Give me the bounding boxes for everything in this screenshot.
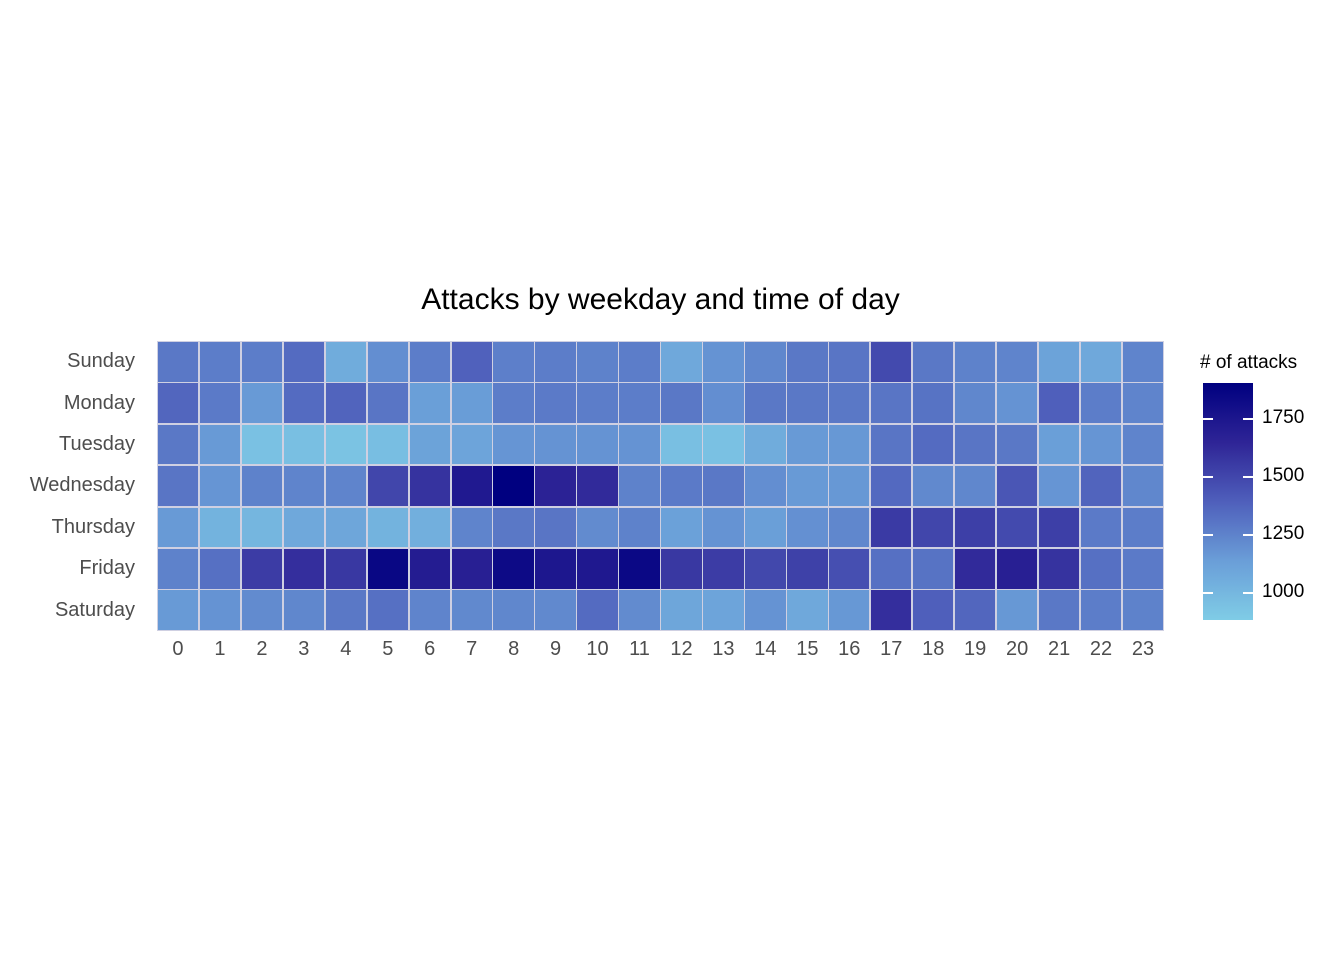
heatmap-cell — [410, 590, 450, 630]
legend-tick-mark — [1203, 592, 1213, 594]
x-tick-label: 5 — [367, 638, 409, 672]
heatmap-cell — [284, 590, 324, 630]
heatmap-cell — [787, 590, 827, 630]
heatmap-cell — [242, 425, 282, 465]
heatmap-cell — [703, 425, 743, 465]
y-tick-label: Saturday — [0, 590, 145, 631]
y-axis-weekday-labels: SundayMondayTuesdayWednesdayThursdayFrid… — [0, 341, 145, 631]
legend-tick-label: 1250 — [1262, 523, 1304, 545]
heatmap-cell — [1123, 466, 1163, 506]
heatmap-cell — [829, 342, 869, 382]
heatmap-cell — [619, 508, 659, 548]
heatmap-cell — [158, 425, 198, 465]
heatmap-cell — [368, 508, 408, 548]
heatmap-cell — [493, 342, 533, 382]
heatmap-cell — [452, 425, 492, 465]
heatmap-cell — [535, 590, 575, 630]
heatmap-cell — [661, 590, 701, 630]
heatmap-cell — [535, 549, 575, 589]
heatmap-cell — [619, 342, 659, 382]
heatmap-cell — [829, 383, 869, 423]
x-tick-label: 20 — [996, 638, 1038, 672]
heatmap-cell — [1039, 508, 1079, 548]
heatmap-cell — [871, 508, 911, 548]
heatmap-cell — [829, 508, 869, 548]
heatmap-cell — [703, 342, 743, 382]
heatmap-cell — [326, 508, 366, 548]
x-tick-label: 4 — [325, 638, 367, 672]
x-tick-label: 22 — [1080, 638, 1122, 672]
heatmap-cell — [1123, 342, 1163, 382]
heatmap-cell — [452, 590, 492, 630]
heatmap-cell — [410, 425, 450, 465]
heatmap-cell — [200, 590, 240, 630]
heatmap-cell — [326, 590, 366, 630]
heatmap-cell — [997, 549, 1037, 589]
heatmap-cell — [787, 342, 827, 382]
heatmap-cell — [1123, 549, 1163, 589]
heatmap-cell — [661, 549, 701, 589]
heatmap-cell — [745, 590, 785, 630]
heatmap-cell — [368, 466, 408, 506]
x-tick-label: 15 — [786, 638, 828, 672]
heatmap-cell — [284, 466, 324, 506]
heatmap-cell — [997, 508, 1037, 548]
heatmap-cell — [326, 549, 366, 589]
heatmap-cell — [200, 383, 240, 423]
heatmap-cell — [955, 425, 995, 465]
heatmap-cell — [661, 342, 701, 382]
heatmap-cell — [1081, 508, 1121, 548]
heatmap-cell — [577, 342, 617, 382]
heatmap-cell — [535, 425, 575, 465]
heatmap-cell — [787, 425, 827, 465]
heatmap-cell — [284, 383, 324, 423]
heatmap-cell — [452, 466, 492, 506]
x-tick-label: 3 — [283, 638, 325, 672]
x-tick-label: 17 — [870, 638, 912, 672]
heatmap-cell — [284, 342, 324, 382]
heatmap-cell — [871, 466, 911, 506]
heatmap-cell — [368, 549, 408, 589]
heatmap-cell — [200, 342, 240, 382]
heatmap-cell — [158, 590, 198, 630]
x-tick-label: 0 — [157, 638, 199, 672]
heatmap-cell — [955, 466, 995, 506]
heatmap-cell — [577, 590, 617, 630]
heatmap-cell — [577, 549, 617, 589]
heatmap-cell — [535, 342, 575, 382]
heatmap-cell — [661, 383, 701, 423]
x-tick-label: 11 — [619, 638, 661, 672]
heatmap-cell — [955, 508, 995, 548]
heatmap-cell — [745, 342, 785, 382]
heatmap-cell — [703, 383, 743, 423]
heatmap-cell — [158, 508, 198, 548]
heatmap-cell — [242, 342, 282, 382]
heatmap-cell — [787, 508, 827, 548]
heatmap-cell — [1081, 590, 1121, 630]
heatmap-cell — [745, 549, 785, 589]
x-tick-label: 1 — [199, 638, 241, 672]
heatmap-cell — [158, 466, 198, 506]
heatmap-cell — [368, 383, 408, 423]
plot-area — [157, 341, 1164, 631]
x-tick-label: 23 — [1122, 638, 1164, 672]
x-tick-label: 13 — [702, 638, 744, 672]
heatmap-cell — [158, 549, 198, 589]
legend-tick-mark — [1203, 476, 1213, 478]
heatmap-cell — [703, 549, 743, 589]
heatmap-cell — [493, 425, 533, 465]
heatmap-cell — [955, 549, 995, 589]
x-tick-label: 19 — [954, 638, 996, 672]
legend-tick-mark — [1243, 418, 1253, 420]
heatmap-cell — [1039, 383, 1079, 423]
y-tick-label: Sunday — [0, 341, 145, 382]
heatmap-cell — [368, 342, 408, 382]
heatmap-cell — [242, 590, 282, 630]
legend-tick-label: 1000 — [1262, 581, 1304, 603]
heatmap-cell — [1123, 508, 1163, 548]
heatmap-cell — [745, 466, 785, 506]
y-tick-label: Wednesday — [0, 465, 145, 506]
heatmap-cell — [1123, 425, 1163, 465]
heatmap-cell — [955, 590, 995, 630]
heatmap-cell — [242, 508, 282, 548]
heatmap-figure: Attacks by weekday and time of day Sunda… — [0, 0, 1344, 960]
heatmap-cell — [913, 342, 953, 382]
heatmap-cell — [703, 590, 743, 630]
heatmap-cell — [326, 466, 366, 506]
heatmap-cell — [871, 425, 911, 465]
heatmap-cell — [829, 466, 869, 506]
heatmap-cell — [745, 425, 785, 465]
heatmap-cell — [493, 466, 533, 506]
heatmap-cell — [284, 425, 324, 465]
heatmap-grid — [157, 341, 1164, 631]
heatmap-cell — [913, 466, 953, 506]
heatmap-cell — [829, 590, 869, 630]
heatmap-cell — [787, 549, 827, 589]
legend-tick-mark — [1243, 592, 1253, 594]
heatmap-cell — [1081, 549, 1121, 589]
heatmap-cell — [913, 590, 953, 630]
heatmap-cell — [745, 383, 785, 423]
heatmap-cell — [913, 508, 953, 548]
heatmap-cell — [1081, 466, 1121, 506]
heatmap-cell — [1081, 425, 1121, 465]
heatmap-cell — [703, 508, 743, 548]
heatmap-cell — [871, 383, 911, 423]
y-tick-label: Friday — [0, 548, 145, 589]
x-tick-label: 14 — [744, 638, 786, 672]
heatmap-cell — [200, 425, 240, 465]
heatmap-cell — [284, 549, 324, 589]
heatmap-cell — [452, 383, 492, 423]
x-tick-label: 18 — [912, 638, 954, 672]
heatmap-cell — [577, 383, 617, 423]
heatmap-cell — [661, 466, 701, 506]
heatmap-cell — [200, 508, 240, 548]
heatmap-cell — [619, 590, 659, 630]
heatmap-cell — [410, 508, 450, 548]
heatmap-cell — [619, 383, 659, 423]
heatmap-cell — [200, 549, 240, 589]
heatmap-cell — [158, 383, 198, 423]
heatmap-cell — [997, 342, 1037, 382]
x-tick-label: 2 — [241, 638, 283, 672]
heatmap-cell — [997, 383, 1037, 423]
heatmap-cell — [913, 425, 953, 465]
legend-title: # of attacks — [1200, 352, 1297, 374]
heatmap-cell — [452, 342, 492, 382]
heatmap-cell — [158, 342, 198, 382]
legend: # of attacks 1750150012501000 — [1196, 352, 1344, 632]
legend-colorbar — [1203, 383, 1253, 620]
heatmap-cell — [871, 342, 911, 382]
x-tick-label: 16 — [828, 638, 870, 672]
heatmap-cell — [1039, 549, 1079, 589]
heatmap-cell — [787, 466, 827, 506]
heatmap-cell — [745, 508, 785, 548]
x-tick-label: 6 — [409, 638, 451, 672]
heatmap-cell — [577, 425, 617, 465]
heatmap-cell — [410, 466, 450, 506]
heatmap-cell — [535, 383, 575, 423]
heatmap-cell — [493, 590, 533, 630]
heatmap-cell — [326, 383, 366, 423]
heatmap-cell — [829, 549, 869, 589]
legend-tick-mark — [1243, 534, 1253, 536]
legend-tick-mark — [1203, 534, 1213, 536]
heatmap-cell — [284, 508, 324, 548]
x-tick-label: 7 — [451, 638, 493, 672]
legend-tick-mark — [1243, 476, 1253, 478]
heatmap-cell — [1123, 383, 1163, 423]
heatmap-cell — [410, 342, 450, 382]
x-tick-label: 12 — [660, 638, 702, 672]
heatmap-cell — [410, 383, 450, 423]
legend-tick-mark — [1203, 418, 1213, 420]
y-tick-label: Monday — [0, 382, 145, 423]
heatmap-cell — [1039, 425, 1079, 465]
page-title: Attacks by weekday and time of day — [157, 283, 1164, 317]
heatmap-cell — [661, 425, 701, 465]
heatmap-cell — [242, 466, 282, 506]
heatmap-cell — [1081, 342, 1121, 382]
heatmap-cell — [535, 508, 575, 548]
heatmap-cell — [661, 508, 701, 548]
heatmap-cell — [410, 549, 450, 589]
heatmap-cell — [913, 383, 953, 423]
heatmap-cell — [871, 590, 911, 630]
heatmap-cell — [829, 425, 869, 465]
heatmap-cell — [242, 383, 282, 423]
heatmap-cell — [493, 549, 533, 589]
heatmap-cell — [577, 508, 617, 548]
heatmap-cell — [997, 590, 1037, 630]
x-tick-label: 9 — [535, 638, 577, 672]
legend-tick-label: 1750 — [1262, 407, 1304, 429]
heatmap-cell — [619, 549, 659, 589]
heatmap-cell — [1123, 590, 1163, 630]
legend-tick-label: 1500 — [1262, 465, 1304, 487]
heatmap-cell — [493, 383, 533, 423]
heatmap-cell — [955, 342, 995, 382]
heatmap-cell — [1039, 342, 1079, 382]
heatmap-cell — [368, 590, 408, 630]
x-axis-hour-labels: 01234567891011121314151617181920212223 — [157, 638, 1164, 672]
heatmap-cell — [493, 508, 533, 548]
heatmap-cell — [535, 466, 575, 506]
heatmap-cell — [1081, 383, 1121, 423]
heatmap-cell — [787, 383, 827, 423]
heatmap-cell — [368, 425, 408, 465]
x-tick-label: 8 — [493, 638, 535, 672]
heatmap-cell — [577, 466, 617, 506]
heatmap-cell — [997, 425, 1037, 465]
heatmap-cell — [1039, 466, 1079, 506]
heatmap-cell — [1039, 590, 1079, 630]
heatmap-cell — [452, 549, 492, 589]
x-tick-label: 10 — [577, 638, 619, 672]
x-tick-label: 21 — [1038, 638, 1080, 672]
heatmap-cell — [997, 466, 1037, 506]
heatmap-cell — [913, 549, 953, 589]
heatmap-cell — [955, 383, 995, 423]
heatmap-cell — [619, 425, 659, 465]
heatmap-cell — [326, 342, 366, 382]
heatmap-cell — [326, 425, 366, 465]
heatmap-cell — [242, 549, 282, 589]
y-tick-label: Thursday — [0, 507, 145, 548]
heatmap-cell — [452, 508, 492, 548]
heatmap-cell — [200, 466, 240, 506]
y-tick-label: Tuesday — [0, 424, 145, 465]
heatmap-cell — [619, 466, 659, 506]
heatmap-cell — [703, 466, 743, 506]
heatmap-cell — [871, 549, 911, 589]
